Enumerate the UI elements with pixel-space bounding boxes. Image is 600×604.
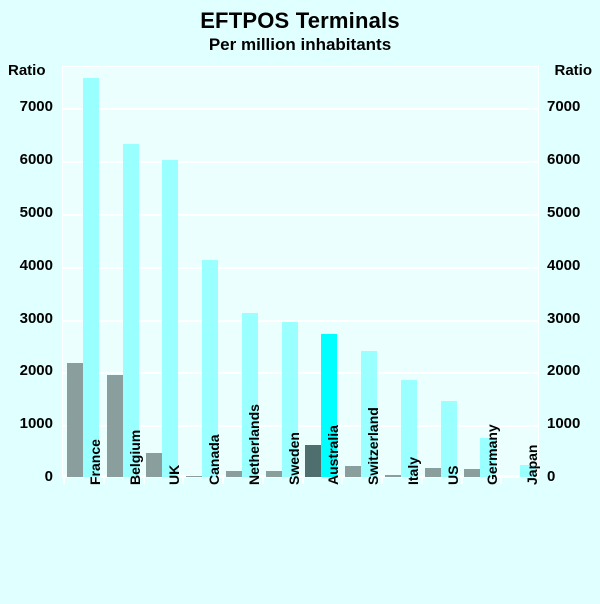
bar-italy-1988: [385, 475, 401, 477]
y-tick-label-left: 0: [45, 468, 53, 485]
x-axis-label-france: France: [87, 439, 103, 485]
x-axis-label-japan: Japan: [524, 445, 540, 485]
x-tick-mark: [103, 477, 105, 484]
bar-uk-1988: [146, 453, 162, 477]
x-axis-label-sweden: Sweden: [286, 432, 302, 485]
y-tick-label-right: 3000: [547, 310, 580, 327]
x-axis-label-canada: Canada: [206, 434, 222, 485]
bar-sweden-1988: [266, 471, 282, 477]
bar-canada-1988: [186, 476, 202, 477]
x-axis-label-netherlands: Netherlands: [246, 404, 262, 485]
x-tick-mark: [63, 477, 65, 484]
bar-belgium-1988: [107, 375, 123, 477]
y-tick-label-left: 6000: [20, 151, 53, 168]
y-tick-label-left: 7000: [20, 98, 53, 115]
y-tick-label-right: 6000: [547, 151, 580, 168]
x-axis-label-australia: Australia: [325, 425, 341, 485]
chart-root: EFTPOS Terminals Per million inhabitants…: [0, 0, 600, 604]
x-tick-mark: [341, 477, 343, 484]
plot-area: [62, 66, 539, 478]
gridline: [63, 108, 538, 110]
x-axis-label-belgium: Belgium: [127, 430, 143, 485]
bar-australia-1988: [305, 445, 321, 477]
x-tick-mark: [381, 477, 383, 484]
bar-belgium-1994: [123, 144, 139, 477]
x-tick-mark: [262, 477, 264, 484]
y-axis-label-right: Ratio: [555, 62, 593, 79]
x-axis-label-switzerland: Switzerland: [365, 407, 381, 485]
y-tick-label-right: 2000: [547, 362, 580, 379]
y-axis-label-left: Ratio: [8, 62, 46, 79]
x-tick-mark: [500, 477, 502, 484]
bar-germany-1988: [464, 469, 480, 477]
x-axis-label-germany: Germany: [484, 424, 500, 485]
x-tick-mark: [182, 477, 184, 484]
bar-france-1994: [83, 78, 99, 477]
x-axis-label-uk: UK: [166, 465, 182, 485]
chart-title: EFTPOS Terminals: [0, 8, 600, 34]
y-tick-label-left: 5000: [20, 204, 53, 221]
y-tick-label-left: 3000: [20, 310, 53, 327]
chart-subtitle: Per million inhabitants: [0, 35, 600, 55]
bar-uk-1994: [162, 160, 178, 477]
y-tick-label-right: 0: [547, 468, 555, 485]
x-tick-mark: [421, 477, 423, 484]
bar-switzerland-1988: [345, 466, 361, 477]
y-tick-label-left: 4000: [20, 257, 53, 274]
y-tick-label-right: 7000: [547, 98, 580, 115]
y-tick-label-right: 4000: [547, 257, 580, 274]
y-tick-label-left: 1000: [20, 415, 53, 432]
y-tick-label-right: 5000: [547, 204, 580, 221]
bar-netherlands-1988: [226, 471, 242, 477]
x-axis-label-us: US: [445, 466, 461, 485]
bar-us-1988: [425, 468, 441, 477]
x-axis-label-italy: Italy: [405, 457, 421, 485]
y-tick-label-right: 1000: [547, 415, 580, 432]
x-tick-mark: [222, 477, 224, 484]
bar-france-1988: [67, 363, 83, 477]
y-tick-label-left: 2000: [20, 362, 53, 379]
